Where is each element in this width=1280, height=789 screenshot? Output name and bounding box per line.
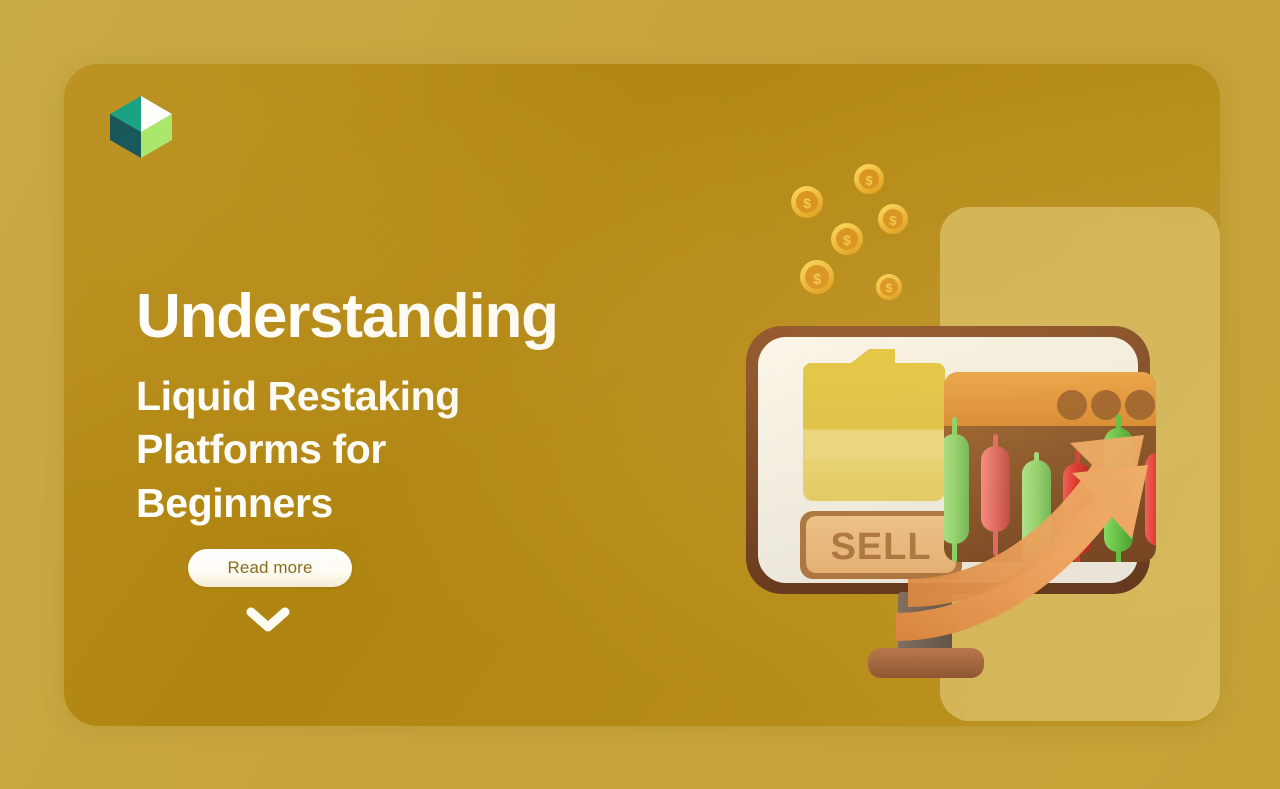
dollar-coin: $ [878,204,908,234]
svg-text:$: $ [865,173,873,188]
dollar-coin-group: $ $ $ $ [791,164,908,300]
hero-subtitle-line: Liquid Restaking [136,370,566,423]
svg-text:$: $ [886,281,893,295]
chart-panel-header [944,372,1156,426]
hero-subtitle: Liquid Restaking Platforms for Beginners [136,370,566,530]
cube-logo-glyph [104,90,178,164]
svg-text:$: $ [803,195,811,211]
page-title: Understanding [136,286,736,348]
sell-button[interactable]: SELL [800,511,962,579]
chart-panel-dot [1057,390,1087,420]
chart-panel-dot [1125,390,1155,420]
trading-monitor-3d-illustration: $ $ $ $ [700,143,1220,726]
dollar-coin: $ [800,260,834,294]
hero-subtitle-line: Beginners [136,477,566,530]
cube-logo[interactable] [104,90,178,164]
svg-text:$: $ [813,271,822,288]
monitor-stand-base [868,648,984,678]
sell-button-label: SELL [830,526,931,568]
page-root: Understanding Liquid Restaking Platforms… [0,0,1280,789]
cta-group: Read more [188,549,518,633]
svg-text:$: $ [889,213,897,228]
dollar-coin: $ [876,274,902,300]
svg-text:$: $ [843,232,851,248]
read-more-button[interactable]: Read more [188,549,352,587]
dollar-coin: $ [831,223,863,255]
chevron-down-icon[interactable] [246,607,290,633]
wallet-pouch [803,349,955,501]
dollar-coin: $ [854,164,884,194]
dollar-coin: $ [791,186,823,218]
hero-copy: Understanding Liquid Restaking Platforms… [136,286,736,530]
hero-subtitle-line: Platforms for [136,423,566,476]
hero-banner-card: Understanding Liquid Restaking Platforms… [64,64,1220,726]
illustration-canvas: $ $ $ $ [700,143,1220,726]
